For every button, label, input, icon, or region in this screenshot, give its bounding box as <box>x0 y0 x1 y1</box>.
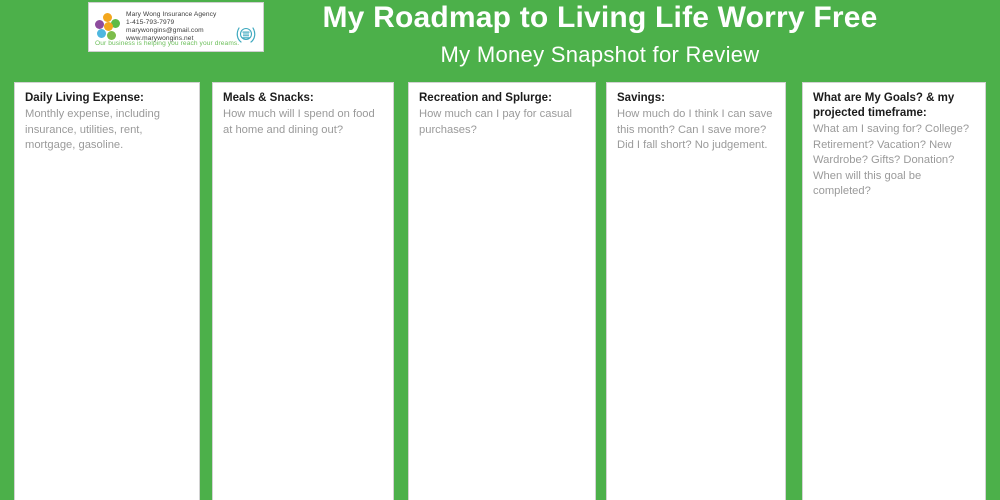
page-subtitle: My Money Snapshot for Review <box>280 42 920 68</box>
agency-logo-card: Mary Wong Insurance Agency 1-415-793-797… <box>88 2 264 52</box>
column-meals-and-snacks[interactable]: Meals & Snacks: How much will I spend on… <box>212 82 394 500</box>
logo-dot-orange-center-icon <box>104 22 113 31</box>
column-body: What am I saving for? College? Retiremen… <box>813 122 975 200</box>
logo-dots-icon <box>95 13 121 41</box>
column-heading: Savings: <box>617 91 775 106</box>
column-savings[interactable]: Savings: How much do I think I can save … <box>606 82 786 500</box>
column-heading: What are My Goals? & my projected timefr… <box>813 91 975 121</box>
column-heading: Meals & Snacks: <box>223 91 383 106</box>
column-body: How much will I spend on food at home an… <box>223 107 383 138</box>
agency-name: Mary Wong Insurance Agency <box>126 11 258 19</box>
column-goals-and-timeframe[interactable]: What are My Goals? & my projected timefr… <box>802 82 986 500</box>
award-seal-icon <box>235 24 257 46</box>
column-heading: Daily Living Expense: <box>25 91 189 106</box>
column-daily-living-expense[interactable]: Daily Living Expense: Monthly expense, i… <box>14 82 200 500</box>
logo-dot-green-bottom-icon <box>107 31 116 40</box>
column-body: How much do I think I can save this mont… <box>617 107 775 154</box>
column-body: How much can I pay for casual purchases? <box>419 107 585 138</box>
page-title: My Roadmap to Living Life Worry Free <box>280 1 920 35</box>
logo-dot-blue-bottom-left-icon <box>97 29 106 38</box>
column-body: Monthly expense, including insurance, ut… <box>25 107 189 154</box>
header-banner: Mary Wong Insurance Agency 1-415-793-797… <box>0 0 1000 78</box>
column-recreation-and-splurge[interactable]: Recreation and Splurge: How much can I p… <box>408 82 596 500</box>
column-heading: Recreation and Splurge: <box>419 91 585 106</box>
logo-dot-purple-left-icon <box>95 20 104 29</box>
agency-tagline: Our business is helping you reach your d… <box>95 40 239 48</box>
